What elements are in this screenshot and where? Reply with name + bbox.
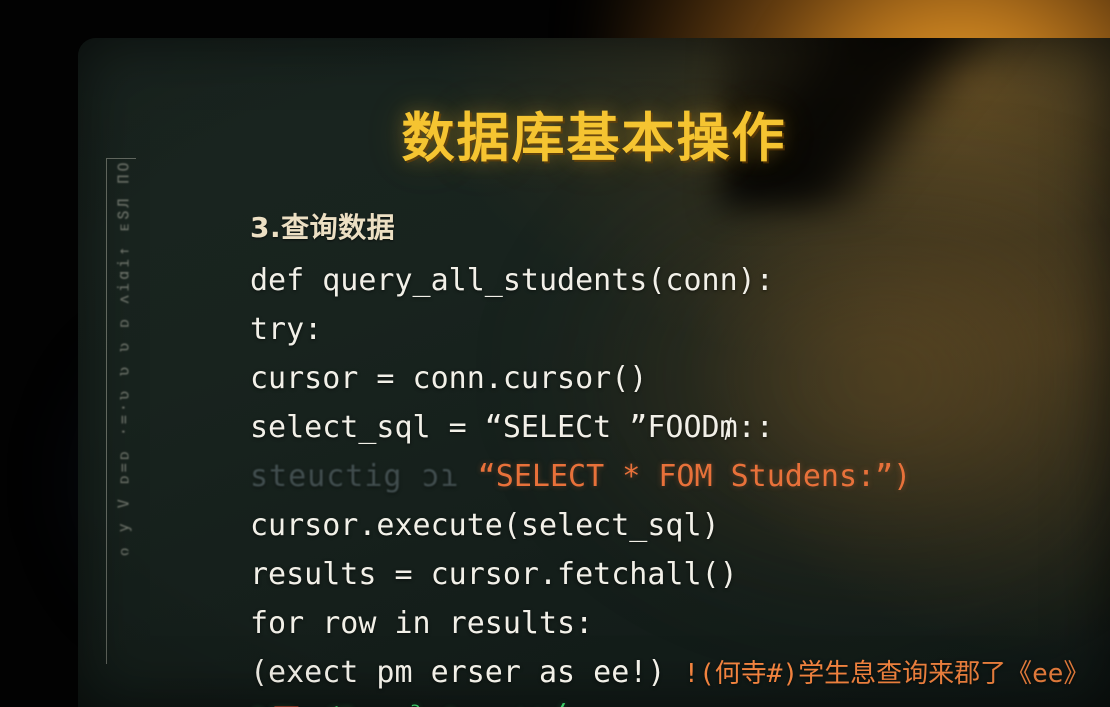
code-line-execute: cursor.execute(select_sql): [250, 501, 1100, 550]
slide-title: 数据库基本操作: [78, 96, 1110, 172]
slide-screenshot: 数据库基本操作 ი y V ᴅ=ᴅ ·=·ʋ ʋ ʋ ᴅ ᴧiɑi↑ ᴇՏЛ П…: [0, 0, 1110, 707]
code-line-try: try:: [250, 305, 1100, 354]
code-line-cursor: cursor = conn.cursor(): [250, 354, 1100, 403]
sidebar-vertical-text: ი y V ᴅ=ᴅ ·=·ʋ ʋ ʋ ᴅ ᴧiɑi↑ ᴇՏЛ ПО: [115, 160, 134, 680]
bottom-red-overlay-text: 弄一: [272, 697, 330, 707]
code-line-garbled: (exect pm erser as ee!) !(何寺#)学生息查询来郡了《e…: [250, 648, 1100, 697]
garbled-white-fragment: (exect pm erser as ee!): [250, 655, 665, 690]
slide-card: 数据库基本操作 ი y V ᴅ=ᴅ ·=·ʋ ʋ ʋ ᴅ ᴧiɑi↑ ᴇՏЛ П…: [78, 38, 1110, 707]
code-line-bottom-green: 3弄一印ɩɩ◻ˀ.0wes!!╱ 弄一: [250, 697, 1100, 707]
section-heading: 3.查询数据: [250, 206, 1100, 246]
ghost-orange-sql-fragment: “SELECT * FOM Studens:”): [478, 459, 911, 494]
ghost-text-fragment: steuctig ɔɿ: [250, 459, 460, 494]
sidebar-decoration: ი y V ᴅ=ᴅ ·=·ʋ ʋ ʋ ᴅ ᴧiɑi↑ ᴇՏЛ ПО: [100, 158, 146, 698]
code-line-select-sql: select_sql = “SELECt ”FOOD₥::: [250, 403, 1100, 452]
code-line-ghost-artifact: steuctig ɔɿ “SELECT * FOM Studens:”): [250, 452, 1100, 501]
code-content: 3.查询数据 def query_all_students(conn): try…: [250, 206, 1100, 707]
code-line-results: results = cursor.fetchall(): [250, 550, 1100, 599]
garbled-orange-chinese-fragment: !(何寺#)学生息查询来郡了《ee》: [683, 659, 1089, 689]
code-line-for-loop: for row in results:: [250, 599, 1100, 648]
code-line-def: def query_all_students(conn):: [250, 256, 1100, 305]
